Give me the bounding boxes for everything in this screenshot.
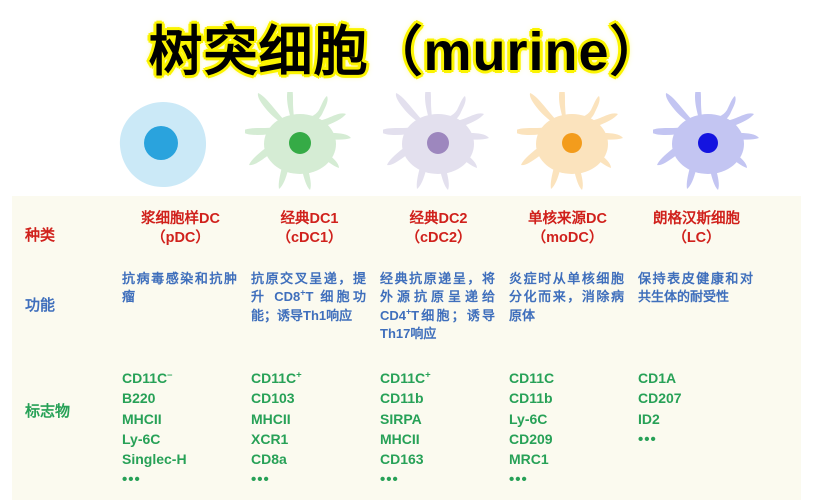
- marker-item: •••: [251, 469, 371, 491]
- kind-main-modc: 单核来源DC: [528, 211, 607, 227]
- kind-cell-cdc1: 经典DC1 （cDC1）: [251, 210, 380, 266]
- marker-item: CD11C: [509, 368, 629, 388]
- table-row-kind: 种类 浆细胞样DC （pDC） 经典DC1 （cDC1） 经典DC2 （cDC2…: [12, 210, 801, 266]
- marker-item: •••: [509, 469, 629, 491]
- cell-illustration-strip: [0, 92, 813, 196]
- marker-item: B220: [122, 388, 242, 408]
- pdc-cell-icon: [113, 96, 213, 192]
- marker-item: CD163: [380, 449, 500, 469]
- lc-cell: [648, 92, 770, 196]
- kind-sub-lc: （LC）: [638, 229, 755, 248]
- marker-item: CD11b: [509, 388, 629, 408]
- marker-cell-cdc1: CD11C+CD103MHCIIXCR1CD8a•••: [251, 368, 380, 494]
- marker-item: •••: [380, 469, 500, 491]
- function-cell-lc: 保持表皮健康和对共生体的耐受性: [638, 270, 767, 366]
- function-cell-cdc1: 抗原交叉呈递，提升 CD8+T 细胞功能；诱导Th1响应: [251, 270, 380, 366]
- kind-main-pdc: 浆细胞样DC: [141, 211, 220, 227]
- kind-cell-cdc2: 经典DC2 （cDC2）: [380, 210, 509, 266]
- modc-cell-icon: [517, 92, 629, 196]
- cdc2-cell: [378, 92, 500, 196]
- marker-item: CD11b: [380, 388, 500, 408]
- marker-cell-modc: CD11CCD11bLy-6CCD209MRC1•••: [509, 368, 638, 494]
- marker-item: CD11C+: [251, 368, 371, 388]
- row-label-function: 功能: [12, 270, 122, 366]
- function-cell-pdc: 抗病毒感染和抗肿瘤: [122, 270, 251, 366]
- kind-main-cdc1: 经典DC1: [280, 211, 338, 227]
- marker-item: Ly-6C: [509, 409, 629, 429]
- kind-sub-cdc2: （cDC2）: [380, 229, 497, 248]
- modc-cell: [512, 92, 634, 196]
- marker-item: CD11C–: [122, 368, 242, 388]
- kind-sub-modc: （moDC）: [509, 229, 626, 248]
- lc-cell-icon: [653, 92, 765, 196]
- marker-item: ID2: [638, 409, 758, 429]
- kind-cell-modc: 单核来源DC （moDC）: [509, 210, 638, 266]
- marker-item: Singlec-H: [122, 449, 242, 469]
- table-row-marker: 标志物 CD11C–B220MHCIILy-6CSinglec-H••• CD1…: [12, 368, 801, 494]
- function-cell-modc: 炎症时从单核细胞分化而来，消除病原体: [509, 270, 638, 366]
- kind-sub-cdc1: （cDC1）: [251, 229, 368, 248]
- marker-item: Ly-6C: [122, 429, 242, 449]
- marker-item: •••: [122, 469, 242, 491]
- marker-item: CD11C+: [380, 368, 500, 388]
- table-row-function: 功能 抗病毒感染和抗肿瘤 抗原交叉呈递，提升 CD8+T 细胞功能；诱导Th1响…: [12, 270, 801, 366]
- marker-item: MRC1: [509, 449, 629, 469]
- kind-sub-pdc: （pDC）: [122, 229, 239, 248]
- marker-item: MHCII: [122, 409, 242, 429]
- row-label-marker: 标志物: [12, 368, 122, 494]
- marker-item: •••: [638, 429, 758, 451]
- marker-item: MHCII: [251, 409, 371, 429]
- kind-main-lc: 朗格汉斯细胞: [653, 211, 740, 227]
- page-title: 树突细胞（murine）: [148, 7, 664, 86]
- cdc2-cell-icon: [383, 92, 495, 196]
- kind-cell-lc: 朗格汉斯细胞 （LC）: [638, 210, 767, 266]
- title-bar: 树突细胞（murine）: [0, 0, 813, 92]
- cdc1-cell-icon: [245, 92, 357, 196]
- cdc1-cell: [240, 92, 362, 196]
- marker-cell-cdc2: CD11C+CD11bSIRPAMHCIICD163•••: [380, 368, 509, 494]
- row-label-kind: 种类: [12, 210, 122, 266]
- marker-item: CD207: [638, 388, 758, 408]
- pdc-cell: [102, 92, 224, 196]
- comparison-table: 种类 浆细胞样DC （pDC） 经典DC1 （cDC1） 经典DC2 （cDC2…: [12, 196, 801, 500]
- marker-item: SIRPA: [380, 409, 500, 429]
- marker-item: CD209: [509, 429, 629, 449]
- marker-cell-lc: CD1ACD207ID2•••: [638, 368, 767, 494]
- kind-main-cdc2: 经典DC2: [409, 211, 467, 227]
- kind-cell-pdc: 浆细胞样DC （pDC）: [122, 210, 251, 266]
- function-cell-cdc2: 经典抗原递呈，将外源抗原呈递给CD4+T细胞；诱导Th17响应: [380, 270, 509, 366]
- marker-item: CD103: [251, 388, 371, 408]
- marker-item: MHCII: [380, 429, 500, 449]
- marker-item: CD8a: [251, 449, 371, 469]
- marker-item: CD1A: [638, 368, 758, 388]
- marker-cell-pdc: CD11C–B220MHCIILy-6CSinglec-H•••: [122, 368, 251, 494]
- marker-item: XCR1: [251, 429, 371, 449]
